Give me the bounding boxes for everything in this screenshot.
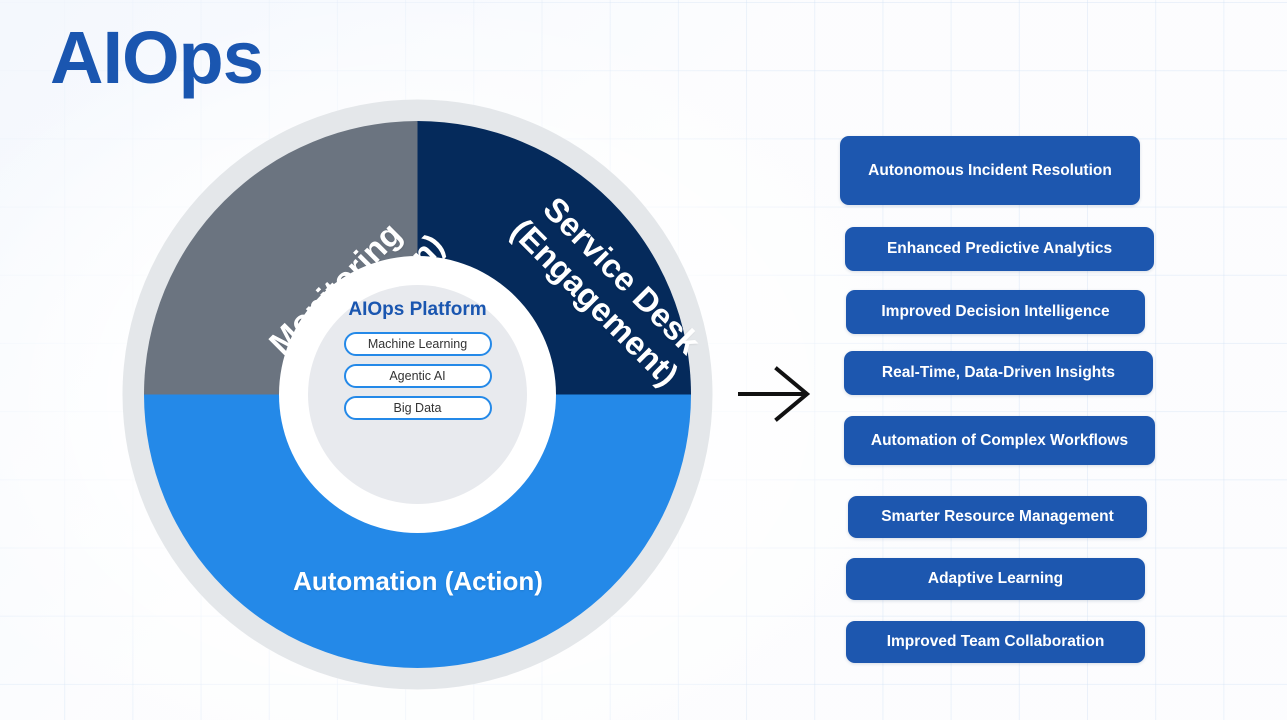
core-pill-agentic-ai[interactable]: Agentic AI: [344, 364, 492, 388]
outcome-real-time-data-driven-insights[interactable]: Real-Time, Data-Driven Insights: [844, 351, 1153, 395]
outcome-enhanced-predictive-analytics[interactable]: Enhanced Predictive Analytics: [845, 227, 1154, 271]
outcome-smarter-resource-management[interactable]: Smarter Resource Management: [848, 496, 1147, 538]
aiops-platform-core: AIOps Platform Machine Learning Agentic …: [279, 256, 556, 533]
core-pill-big-data[interactable]: Big Data: [344, 396, 492, 420]
outcome-autonomous-incident-resolution[interactable]: Autonomous Incident Resolution: [840, 136, 1140, 205]
core-title: AIOps Platform: [348, 299, 486, 321]
page-title: AIOps: [50, 18, 263, 98]
outcomes-list: Autonomous Incident Resolution Enhanced …: [835, 136, 1155, 676]
results-flow-arrow: [736, 365, 818, 423]
core-pill-machine-learning[interactable]: Machine Learning: [344, 332, 492, 356]
outcome-improved-decision-intelligence[interactable]: Improved Decision Intelligence: [846, 290, 1145, 334]
outcome-adaptive-learning[interactable]: Adaptive Learning: [846, 558, 1145, 600]
aiops-cycle-diagram: Monitoring (Observation) Service Desk (E…: [122, 99, 713, 690]
outcome-automation-of-complex-workflows[interactable]: Automation of Complex Workflows: [844, 416, 1155, 465]
outcome-improved-team-collaboration[interactable]: Improved Team Collaboration: [846, 621, 1145, 663]
core-inner-circle: AIOps Platform Machine Learning Agentic …: [308, 285, 527, 504]
